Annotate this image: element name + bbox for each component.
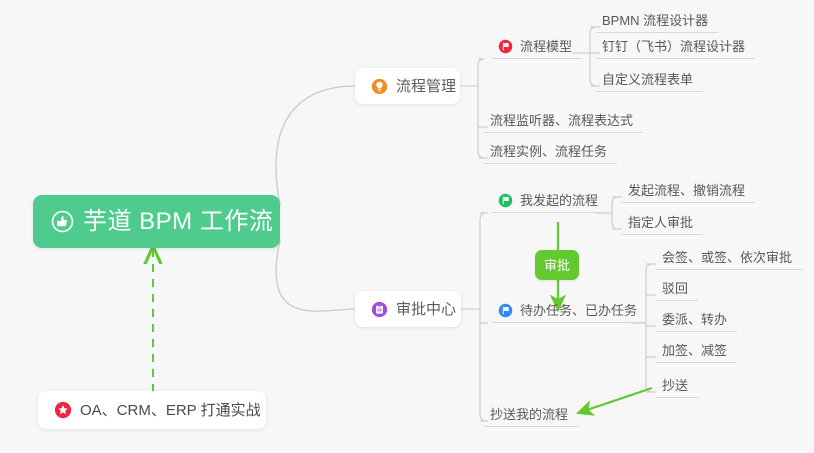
node-todo-done-tasks[interactable]: 待办任务、已办任务 — [492, 303, 647, 323]
node-label-reject: 驳回 — [662, 282, 688, 295]
node-countersign-orsign-sequential[interactable]: 会签、或签、依次审批 — [656, 250, 802, 270]
node-process-instance-task[interactable]: 流程实例、流程任务 — [484, 144, 617, 164]
annotation-badge-label: 审批 — [544, 259, 570, 272]
node-custom-process-form[interactable]: 自定义流程表单 — [596, 72, 703, 92]
flag-icon — [498, 39, 513, 54]
node-label-countersign-orsign-sequential: 会签、或签、依次审批 — [662, 251, 792, 264]
node-label-custom-process-form: 自定义流程表单 — [602, 73, 693, 86]
annotation-badge-approval[interactable]: 审批 — [535, 250, 579, 280]
node-cc[interactable]: 抄送 — [656, 378, 698, 398]
node-label-add-remove-sign: 加签、减签 — [662, 344, 727, 357]
node-start-cancel-process[interactable]: 发起流程、撤销流程 — [622, 183, 755, 203]
floating-node-oa-crm-erp[interactable]: OA、CRM、ERP 打通实战 — [38, 391, 266, 429]
node-label-start-cancel-process: 发起流程、撤销流程 — [628, 184, 745, 197]
node-label-dingtalk-feishu-designer: 钉钉（飞书）流程设计器 — [602, 40, 745, 53]
node-add-remove-sign[interactable]: 加签、减签 — [656, 343, 737, 363]
node-assignee-approval[interactable]: 指定人审批 — [622, 215, 703, 235]
node-process-model[interactable]: 流程模型 — [492, 39, 582, 59]
flag-icon — [498, 303, 513, 318]
branch-node-process-management[interactable]: 流程管理 — [355, 68, 460, 104]
lightbulb-icon — [371, 78, 388, 95]
thumbs-up-icon — [51, 210, 74, 233]
node-label-assignee-approval: 指定人审批 — [628, 216, 693, 229]
edge-root-to-process-management — [276, 86, 355, 205]
branch-label-approval-center: 审批中心 — [396, 302, 456, 317]
annotation-arrow-cc-to-ccme — [578, 388, 652, 413]
node-label-todo-done-tasks: 待办任务、已办任务 — [520, 304, 637, 317]
root-node[interactable]: 芋道 BPM 工作流 — [33, 195, 280, 248]
clipboard-icon — [371, 301, 388, 318]
node-dingtalk-feishu-designer[interactable]: 钉钉（飞书）流程设计器 — [596, 39, 755, 59]
node-delegate-transfer[interactable]: 委派、转办 — [656, 312, 737, 332]
node-label-cc-to-me-process: 抄送我的流程 — [490, 408, 568, 421]
edge-my-initiated-bracket — [612, 197, 618, 229]
root-label: 芋道 BPM 工作流 — [83, 210, 273, 234]
branch-node-approval-center[interactable]: 审批中心 — [355, 291, 461, 327]
node-label-process-model: 流程模型 — [520, 40, 572, 53]
node-my-initiated-process[interactable]: 我发起的流程 — [492, 193, 608, 213]
node-process-listener-expression[interactable]: 流程监听器、流程表达式 — [484, 113, 643, 133]
node-label-delegate-transfer: 委派、转办 — [662, 313, 727, 326]
branch-label-process-management: 流程管理 — [396, 79, 456, 94]
edge-todo-done-bracket — [646, 264, 652, 392]
mindmap-canvas: 芋道 BPM 工作流 流程管理 流程模型 BPMN 流程设计器 钉钉（飞书）流 — [0, 0, 814, 453]
floating-label-oa-crm-erp: OA、CRM、ERP 打通实战 — [80, 403, 261, 418]
node-bpmn-designer[interactable]: BPMN 流程设计器 — [596, 13, 718, 33]
node-reject[interactable]: 驳回 — [656, 281, 698, 301]
node-label-my-initiated-process: 我发起的流程 — [520, 194, 598, 207]
star-icon — [54, 401, 72, 419]
node-label-process-listener-expression: 流程监听器、流程表达式 — [490, 114, 633, 127]
edge-root-to-approval-center — [276, 240, 355, 311]
node-label-cc: 抄送 — [662, 379, 688, 392]
node-label-process-instance-task: 流程实例、流程任务 — [490, 145, 607, 158]
flag-icon — [498, 193, 513, 208]
node-label-bpmn-designer: BPMN 流程设计器 — [602, 14, 708, 27]
edge-approval-center-bracket — [480, 213, 486, 421]
node-cc-to-me-process[interactable]: 抄送我的流程 — [484, 407, 578, 427]
